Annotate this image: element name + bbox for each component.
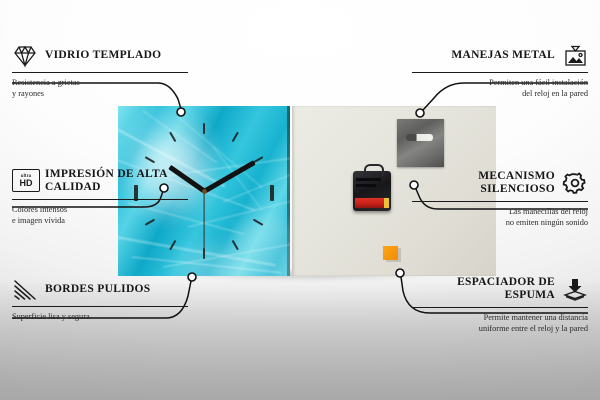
polished-edges-icon	[12, 278, 38, 302]
divider	[412, 72, 588, 73]
divider	[12, 306, 188, 307]
feature-bordes-pulidos: BORDES PULIDOS Superficie lisa y segura	[12, 278, 188, 322]
divider	[12, 199, 188, 200]
ultra-hd-icon: ultra HD	[12, 169, 38, 193]
divider	[412, 307, 588, 308]
feature-title: ESPACIADOR DE ESPUMA	[412, 276, 555, 303]
ultra-hd-label-main: HD	[20, 179, 33, 188]
diamond-icon	[12, 44, 38, 68]
feature-impresion-alta-calidad: ultra HD IMPRESIÓN DE ALTA CALIDAD Color…	[12, 168, 188, 226]
feature-description: Permite mantener una distancia uniforme …	[412, 312, 588, 334]
divider	[412, 201, 588, 202]
feature-title: VIDRIO TEMPLADO	[45, 49, 161, 62]
arrow-down-stack-icon	[562, 277, 588, 301]
feature-espaciador-espuma: ESPACIADOR DE ESPUMA Permite mantener un…	[412, 276, 588, 334]
feature-title: IMPRESIÓN DE ALTA CALIDAD	[45, 168, 188, 195]
feature-manejas-metal: MANEJAS METAL Permiten una fácil instala…	[412, 44, 588, 99]
infographic-canvas: VIDRIO TEMPLADO Resistencia a grietas y …	[0, 0, 600, 400]
feature-vidrio-templado: VIDRIO TEMPLADO Resistencia a grietas y …	[12, 44, 188, 99]
feature-description: Colores intensos e imagen vívida	[12, 204, 188, 226]
picture-frame-hanger-icon	[562, 44, 588, 68]
feature-description: Permiten una fácil instalación del reloj…	[412, 77, 588, 99]
feature-mecanismo-silencioso: MECANISMO SILENCIOSO Las manecillas del …	[412, 170, 588, 228]
divider	[12, 72, 188, 73]
feature-description: Superficie lisa y segura	[12, 311, 188, 322]
feature-description: Las manecillas del reloj no emiten ningú…	[412, 206, 588, 228]
gear-icon	[562, 171, 588, 195]
feature-title: MANEJAS METAL	[451, 49, 555, 62]
feature-description: Resistencia a grietas y rayones	[12, 77, 188, 99]
feature-title: MECANISMO SILENCIOSO	[412, 170, 555, 197]
feature-title: BORDES PULIDOS	[45, 283, 151, 296]
